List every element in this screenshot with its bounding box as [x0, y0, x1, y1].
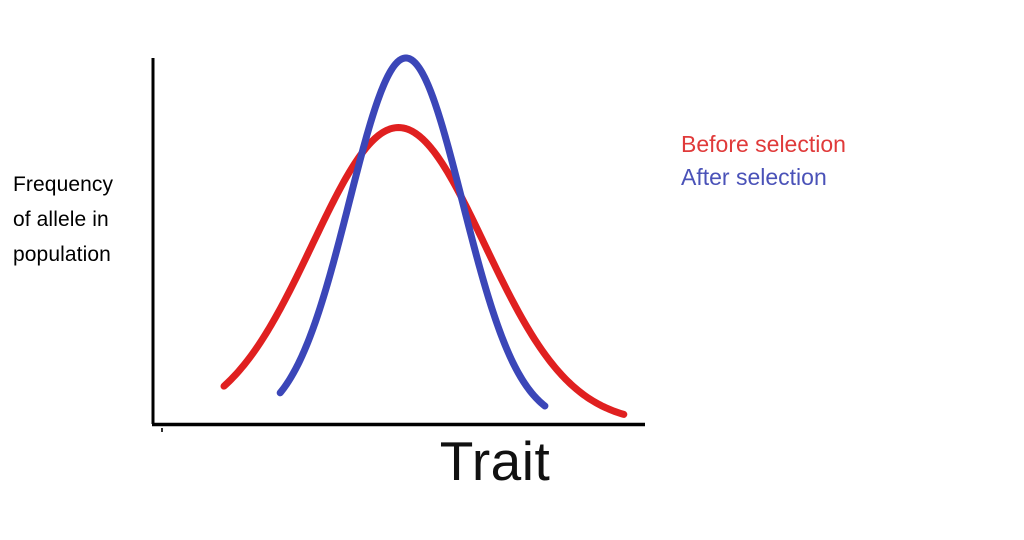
legend-item-after-selection: After selection	[681, 161, 846, 194]
y-axis-label-line-3: population	[13, 237, 145, 272]
legend-item-before-selection: Before selection	[681, 128, 846, 161]
y-axis-label: Frequency of allele in population	[13, 167, 145, 272]
y-axis-label-line-1: Frequency	[13, 167, 145, 202]
chart-legend: Before selection After selection	[681, 128, 846, 194]
curve-before-selection	[224, 128, 624, 415]
x-axis-label: Trait	[330, 432, 660, 490]
y-axis-label-line-2: of allele in	[13, 202, 145, 237]
chart-canvas: Frequency of allele in population Trait …	[0, 0, 1024, 540]
